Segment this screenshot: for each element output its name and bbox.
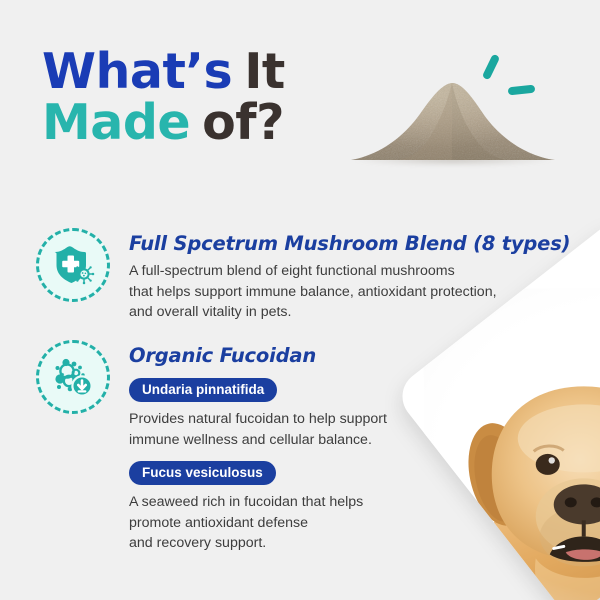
golden-retriever-and-siamese-cat-photo bbox=[424, 288, 600, 600]
title-word-it: It bbox=[244, 43, 285, 100]
feature-row-mushroom-blend: Full Spcetrum Mushroom Blend (8 types) A… bbox=[36, 228, 570, 323]
status-badge-undaria: Undaria pinnatifida bbox=[129, 378, 277, 402]
feature-heading: Full Spcetrum Mushroom Blend (8 types) bbox=[129, 232, 570, 255]
powder-mound-illustration bbox=[348, 62, 558, 162]
title-word-of: of? bbox=[202, 94, 284, 151]
page-title: What’sIt Madeof? bbox=[42, 48, 372, 146]
title-line-2: Madeof? bbox=[42, 99, 372, 146]
title-word-made: Made bbox=[42, 94, 190, 151]
title-line-1: What’sIt bbox=[42, 48, 372, 95]
sub-item-fucus: Fucus vesiculosus A seaweed rich in fuco… bbox=[129, 459, 387, 554]
molecule-cluster-download-icon bbox=[36, 340, 110, 414]
title-word-whats: What’s bbox=[42, 43, 232, 100]
sub-item-body: A seaweed rich in fucoidan that helps pr… bbox=[129, 492, 387, 554]
status-badge-fucus: Fucus vesiculosus bbox=[129, 461, 276, 485]
feature-heading: Organic Fucoidan bbox=[129, 344, 387, 367]
pet-photo-inner bbox=[424, 288, 600, 600]
feature-row-organic-fucoidan: Organic Fucoidan Undaria pinnatifida Pro… bbox=[36, 340, 387, 554]
feature-text-organic-fucoidan: Organic Fucoidan Undaria pinnatifida Pro… bbox=[129, 340, 387, 554]
infographic-poster: What’sIt Madeof? bbox=[0, 0, 600, 600]
sub-item-body: Provides natural fucoidan to help suppor… bbox=[129, 409, 387, 450]
shield-virus-protection-icon bbox=[36, 228, 110, 302]
mushroom-powder-icon bbox=[348, 70, 558, 162]
sub-item-undaria: Undaria pinnatifida Provides natural fuc… bbox=[129, 376, 387, 450]
